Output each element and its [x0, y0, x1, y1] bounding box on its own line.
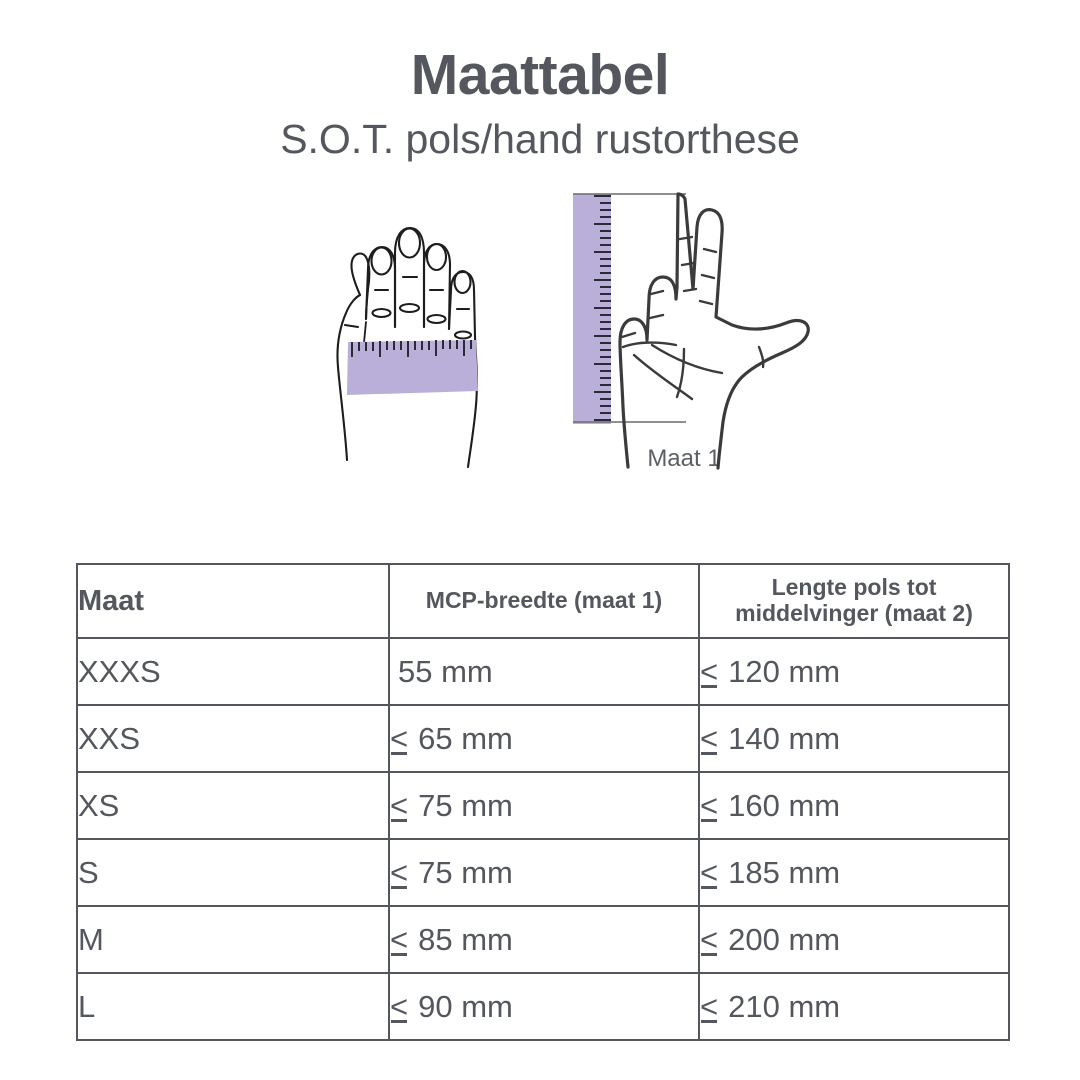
cell-mcp: <75 mm: [389, 839, 699, 906]
cell-size: XXS: [77, 705, 389, 772]
hand-back-illustration: [288, 177, 488, 477]
size-table: Maat MCP-breedte (maat 1) Lengte pols to…: [76, 563, 1010, 1041]
cell-length: <160 mm: [699, 772, 1009, 839]
less-equal-icon: <: [700, 654, 720, 690]
table-row: XXXS 55 mm <120 mm: [77, 638, 1009, 705]
less-equal-icon: <: [700, 855, 720, 891]
figure-maat-2: Maat 2: [556, 177, 826, 482]
cell-length: <210 mm: [699, 973, 1009, 1040]
cell-mcp: 55 mm: [389, 638, 699, 705]
cell-size: M: [77, 906, 389, 973]
page-header: Maattabel S.O.T. pols/hand rustorthese: [0, 0, 1080, 163]
table-row: L <90 mm <210 mm: [77, 973, 1009, 1040]
less-equal-icon: <: [390, 922, 410, 958]
page-title: Maattabel: [0, 46, 1080, 106]
table-body: XXXS 55 mm <120 mm XXS <65 mm <140 mm XS…: [77, 638, 1009, 1040]
cell-mcp-value: 85 mm: [418, 922, 513, 957]
cell-length-value: 120 mm: [728, 654, 840, 689]
column-header-length-line1: Lengte pols tot: [772, 574, 937, 600]
column-header-size: Maat: [77, 564, 389, 638]
cell-length: <140 mm: [699, 705, 1009, 772]
cell-mcp-value: 75 mm: [418, 855, 513, 890]
figure-maat-1: Maat 1: [288, 177, 488, 482]
table-header-row: Maat MCP-breedte (maat 1) Lengte pols to…: [77, 564, 1009, 638]
cell-length-value: 160 mm: [728, 788, 840, 823]
cell-size: S: [77, 839, 389, 906]
cell-length: <120 mm: [699, 638, 1009, 705]
cell-size: XS: [77, 772, 389, 839]
table-row: XXS <65 mm <140 mm: [77, 705, 1009, 772]
cell-length: <185 mm: [699, 839, 1009, 906]
cell-size: L: [77, 973, 389, 1040]
vertical-ruler: [573, 194, 611, 424]
less-equal-icon: <: [390, 721, 410, 757]
column-header-length-line2: middelvinger (maat 2): [735, 600, 973, 626]
cell-mcp: <85 mm: [389, 906, 699, 973]
cell-size: XXXS: [77, 638, 389, 705]
size-table-wrapper: Maat MCP-breedte (maat 1) Lengte pols to…: [76, 563, 1008, 1041]
cell-length-value: 140 mm: [728, 721, 840, 756]
cell-mcp-value: 55 mm: [398, 654, 493, 689]
table-head: Maat MCP-breedte (maat 1) Lengte pols to…: [77, 564, 1009, 638]
page-subtitle: S.O.T. pols/hand rustorthese: [0, 116, 1080, 163]
less-equal-icon: <: [390, 788, 410, 824]
cell-mcp: <65 mm: [389, 705, 699, 772]
column-header-mcp-line1: MCP-breedte (maat 1): [426, 587, 662, 613]
less-equal-icon: <: [390, 989, 410, 1025]
cell-mcp-value: 75 mm: [418, 788, 513, 823]
less-equal-icon: <: [700, 922, 720, 958]
less-equal-icon: <: [700, 989, 720, 1025]
cell-length: <200 mm: [699, 906, 1009, 973]
cell-mcp-value: 65 mm: [418, 721, 513, 756]
less-equal-icon: <: [390, 855, 410, 891]
hand-palm-illustration: [556, 177, 826, 477]
less-equal-icon: <: [700, 788, 720, 824]
column-header-length: Lengte pols tot middelvinger (maat 2): [699, 564, 1009, 638]
horizontal-ruler: [347, 340, 478, 395]
less-equal-icon: <: [700, 721, 720, 757]
cell-length-value: 185 mm: [728, 855, 840, 890]
cell-length-value: 210 mm: [728, 989, 840, 1024]
cell-length-value: 200 mm: [728, 922, 840, 957]
cell-mcp-value: 90 mm: [418, 989, 513, 1024]
cell-mcp: <90 mm: [389, 973, 699, 1040]
illustration-area: Maat 1: [0, 177, 1080, 497]
table-row: S <75 mm <185 mm: [77, 839, 1009, 906]
column-header-mcp: MCP-breedte (maat 1): [389, 564, 699, 638]
table-row: XS <75 mm <160 mm: [77, 772, 1009, 839]
cell-mcp: <75 mm: [389, 772, 699, 839]
table-row: M <85 mm <200 mm: [77, 906, 1009, 973]
